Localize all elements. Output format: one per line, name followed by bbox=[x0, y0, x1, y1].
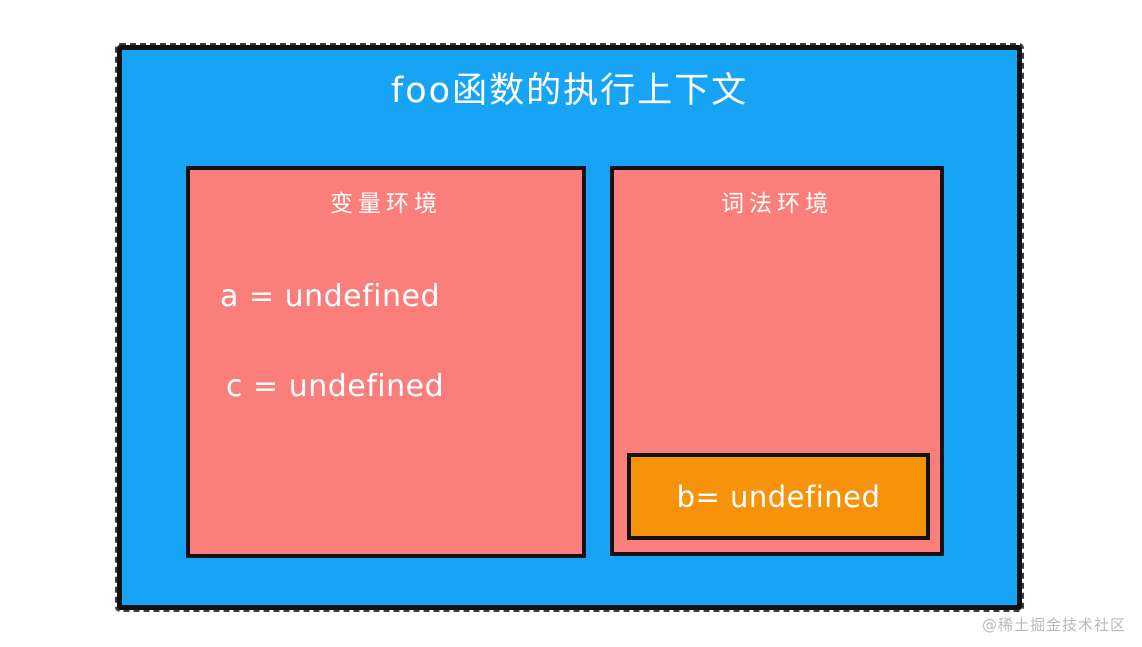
lexical-environment-panel: 词法环境 b= undefined bbox=[610, 166, 944, 556]
watermark: @稀土掘金技术社区 bbox=[982, 614, 1126, 635]
variable-entry-a: a = undefined bbox=[220, 279, 440, 314]
variable-environment-panel: 变量环境 a = undefined c = undefined bbox=[186, 166, 586, 558]
execution-context-title: foo函数的执行上下文 bbox=[122, 72, 1017, 111]
variable-environment-title: 变量环境 bbox=[190, 184, 582, 218]
lexical-environment-title: 词法环境 bbox=[614, 184, 940, 218]
execution-context-box: foo函数的执行上下文 变量环境 a = undefined c = undef… bbox=[122, 50, 1017, 605]
variable-entry-b: b= undefined bbox=[677, 480, 881, 514]
variable-entry-c: c = undefined bbox=[226, 369, 444, 404]
lexical-environment-highlight-box: b= undefined bbox=[627, 453, 930, 540]
